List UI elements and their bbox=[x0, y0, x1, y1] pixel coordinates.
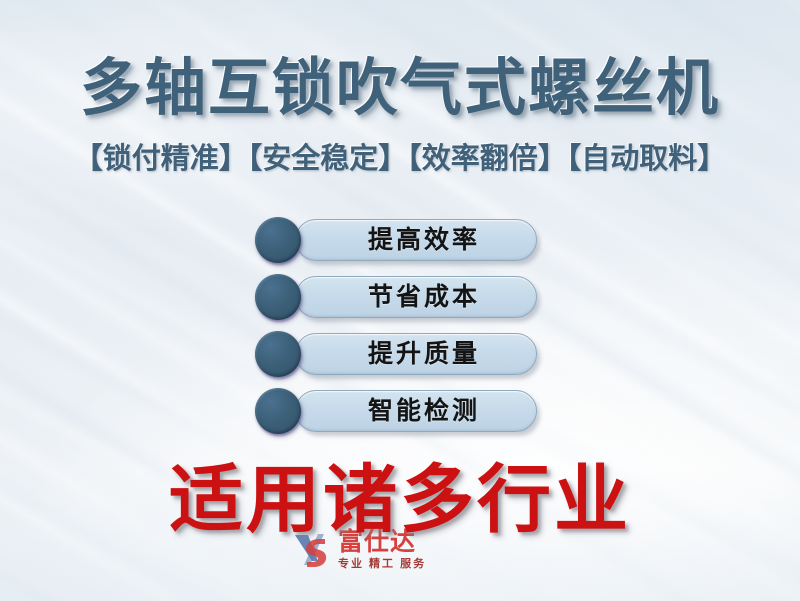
feature-pill[interactable]: 提高效率 bbox=[295, 219, 537, 261]
feature-label: 节省成本 bbox=[352, 285, 480, 310]
headline-subtitle: 【锁付精准】【安全稳定】【效率翻倍】【自动取料】 bbox=[0, 145, 800, 174]
bullet-dot-icon bbox=[255, 217, 301, 263]
promo-banner: 多轴互锁吹气式螺丝机 【锁付精准】【安全稳定】【效率翻倍】【自动取料】 提高效率… bbox=[0, 0, 800, 601]
watermark-tagline: 专业 精工 服务 bbox=[338, 559, 426, 570]
feature-label: 智能检测 bbox=[352, 399, 480, 424]
bullet-dot-icon bbox=[255, 274, 301, 320]
feature-label: 提高效率 bbox=[352, 228, 480, 253]
feature-item[interactable]: 节省成本 bbox=[255, 272, 545, 329]
feature-pill[interactable]: 智能检测 bbox=[295, 390, 537, 432]
feature-item[interactable]: 智能检测 bbox=[255, 386, 545, 443]
bullet-dot-icon bbox=[255, 388, 301, 434]
feature-item[interactable]: 提升质量 bbox=[255, 329, 545, 386]
feature-label: 提升质量 bbox=[352, 342, 480, 367]
feature-list: 提高效率 节省成本 提升质量 智能检测 bbox=[255, 215, 545, 443]
feature-item[interactable]: 提高效率 bbox=[255, 215, 545, 272]
headline-title: 多轴互锁吹气式螺丝机 bbox=[0, 58, 800, 120]
bullet-dot-icon bbox=[255, 331, 301, 377]
bottom-slogan: 适用诸多行业 bbox=[0, 464, 800, 538]
feature-pill[interactable]: 节省成本 bbox=[295, 276, 537, 318]
feature-pill[interactable]: 提升质量 bbox=[295, 333, 537, 375]
